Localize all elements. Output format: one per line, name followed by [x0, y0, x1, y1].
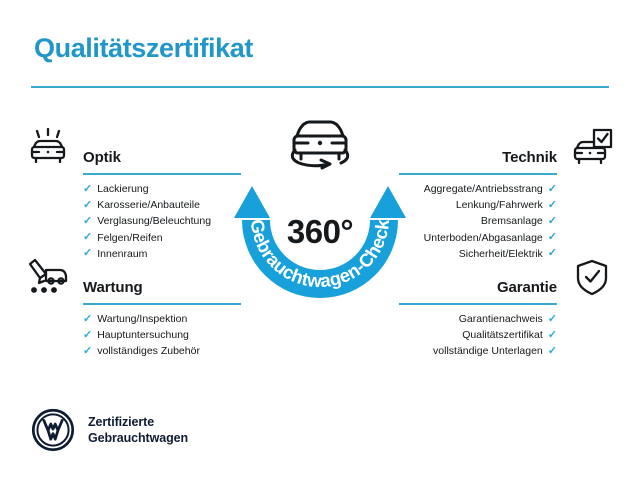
list-item: ✓Karosserie/Anbauteile	[83, 197, 242, 213]
section-divider	[399, 303, 557, 305]
list-item-label: Felgen/Reifen	[97, 230, 162, 246]
section-title: Optik	[83, 149, 121, 166]
section-header: Optik	[22, 126, 242, 172]
section-title: Technik	[502, 149, 557, 166]
check-icon: ✓	[548, 314, 557, 325]
service-pen-car-icon	[22, 256, 74, 300]
list-item: ✓Hauptuntersuchung	[83, 327, 242, 343]
list-item-label: Aggregate/Antriebsstrang	[424, 181, 543, 197]
section-title: Wartung	[83, 279, 143, 296]
check-icon: ✓	[83, 216, 92, 227]
vw-logo	[31, 408, 75, 452]
list-item-label: Garantienachweis	[459, 311, 543, 327]
list-item-label: Qualitätszertifikat	[462, 327, 543, 343]
list-item: ✓Verglasung/Beleuchtung	[83, 213, 242, 229]
list-item: Qualitätszertifikat✓	[398, 327, 557, 343]
check-icon: ✓	[83, 314, 92, 325]
check-icon: ✓	[83, 200, 92, 211]
check-icon: ✓	[548, 346, 557, 357]
section-title: Garantie	[497, 279, 557, 296]
360-check-badge: Gebrauchtwagen-Check 360°	[222, 112, 418, 312]
list-item: Lenkung/Fahrwerk✓	[398, 197, 557, 213]
list-item-label: Verglasung/Beleuchtung	[97, 213, 211, 229]
section-divider	[83, 303, 241, 305]
section-header: Wartung	[22, 256, 242, 302]
ring-cap-left	[234, 186, 270, 218]
list-item-label: Lenkung/Fahrwerk	[456, 197, 543, 213]
check-icon: ✓	[83, 330, 92, 341]
list-item: ✓Wartung/Inspektion	[83, 311, 242, 327]
list-item-label: Unterboden/Abgasanlage	[424, 230, 543, 246]
list-item-label: Karosserie/Anbauteile	[97, 197, 200, 213]
list-item: Aggregate/Antriebsstrang✓	[398, 181, 557, 197]
list-item-label: Hauptuntersuchung	[97, 327, 189, 343]
list-item: Bremsanlage✓	[398, 213, 557, 229]
list-item-label: vollständiges Zubehör	[97, 343, 200, 359]
list-item: ✓Lackierung	[83, 181, 242, 197]
car-checkbox-icon	[566, 126, 618, 170]
list-item: vollständige Unterlagen✓	[398, 343, 557, 359]
list-item: ✓Felgen/Reifen	[83, 230, 242, 246]
check-icon: ✓	[83, 184, 92, 195]
vw-line-1: Zertifizierte	[88, 414, 188, 430]
header-divider	[31, 86, 609, 88]
check-icon: ✓	[548, 216, 557, 227]
list-item-label: Wartung/Inspektion	[97, 311, 187, 327]
page-title: Qualitätszertifikat	[34, 33, 253, 64]
checklist-technik: Aggregate/Antriebsstrang✓ Lenkung/Fahrwe…	[398, 172, 618, 262]
car-shine-icon	[22, 126, 74, 170]
section-wartung: Wartung ✓Wartung/Inspektion ✓Hauptunters…	[22, 256, 242, 360]
section-header: Technik	[398, 126, 618, 172]
check-icon: ✓	[548, 200, 557, 211]
checklist-garantie: Garantienachweis✓ Qualitätszertifikat✓ v…	[398, 302, 618, 360]
certificate-page: Qualitätszertifikat Optik ✓Lackierung ✓K…	[0, 0, 640, 480]
section-technik: Technik Aggregate/Antriebsstrang✓ Lenkun…	[398, 126, 618, 262]
checklist-wartung: ✓Wartung/Inspektion ✓Hauptuntersuchung ✓…	[22, 302, 242, 360]
section-header: Garantie	[398, 256, 618, 302]
list-item: Garantienachweis✓	[398, 311, 557, 327]
ring-cap-right	[370, 186, 406, 218]
arc-text: Gebrauchtwagen-Check	[247, 218, 394, 292]
shield-check-icon	[566, 256, 618, 300]
check-icon: ✓	[83, 346, 92, 357]
list-item-label: vollständige Unterlagen	[433, 343, 543, 359]
list-item-label: Lackierung	[97, 181, 148, 197]
vw-line-2: Gebrauchtwagen	[88, 430, 188, 446]
section-divider	[83, 173, 241, 175]
section-divider	[399, 173, 557, 175]
section-garantie: Garantie Garantienachweis✓ Qualitätszert…	[398, 256, 618, 360]
check-icon: ✓	[83, 232, 92, 243]
list-item: ✓vollständiges Zubehör	[83, 343, 242, 359]
check-icon: ✓	[548, 232, 557, 243]
checklist-optik: ✓Lackierung ✓Karosserie/Anbauteile ✓Verg…	[22, 172, 242, 262]
360-ring: Gebrauchtwagen-Check	[222, 160, 418, 312]
vw-footer: Zertifizierte Gebrauchtwagen	[31, 408, 188, 452]
section-optik: Optik ✓Lackierung ✓Karosserie/Anbauteile…	[22, 126, 242, 262]
check-icon: ✓	[548, 184, 557, 195]
vw-wordmark: Zertifizierte Gebrauchtwagen	[88, 414, 188, 446]
list-item: Unterboden/Abgasanlage✓	[398, 230, 557, 246]
list-item-label: Bremsanlage	[481, 213, 543, 229]
check-icon: ✓	[548, 330, 557, 341]
